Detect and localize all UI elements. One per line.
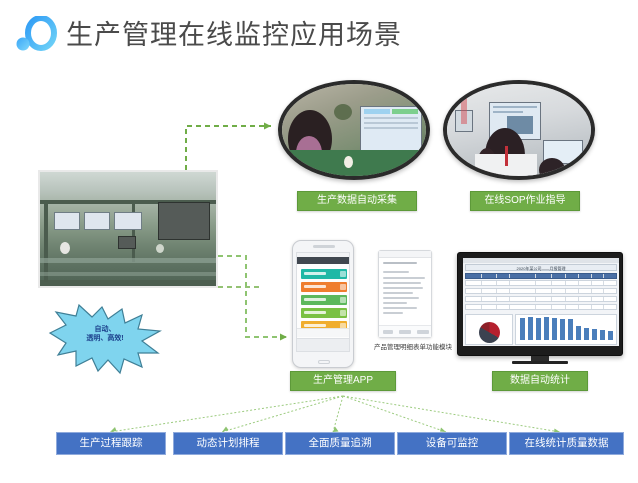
factory-line-photo [38,170,218,288]
menu-item-text [304,285,326,288]
card-header [379,251,431,258]
table-header-row [465,273,617,279]
phone-nav-bar [297,257,350,264]
phone-footer-note [297,328,350,337]
label-online-quality-stats[interactable]: 在线统计质量数据 [509,432,624,455]
bar-chart [515,314,617,345]
label-quality-traceability[interactable]: 全面质量追溯 [285,432,395,455]
dashboard-titlebar [463,258,619,263]
menu-item-text [304,298,326,301]
phone-screen [296,252,350,352]
label-equipment-monitoring[interactable]: 设备可监控 [397,432,507,455]
menu-item-badge-icon [340,297,346,303]
monitor-base [512,361,568,364]
app-caption: 产品管理明细表单功能模块 [374,341,452,351]
slide-canvas: 生产管理在线监控应用场景 [0,0,638,483]
sop-workstation-photo [443,80,595,180]
phone-menu-item[interactable] [301,282,347,292]
label-dynamic-scheduling[interactable]: 动态计划排程 [173,432,283,455]
phone-speaker [313,245,335,248]
pie-chart-circle [479,322,500,343]
menu-item-text [304,324,326,327]
app-detail-card [378,250,432,338]
callout-line-1: 自动、 [46,325,164,334]
label-data-collection[interactable]: 生产数据自动采集 [297,191,417,211]
dashboard-title: 2020年某公司——月报管理 [465,264,617,271]
table-row[interactable] [465,288,617,294]
table-row[interactable] [465,296,617,302]
phone-menu-item[interactable] [301,308,347,318]
callout-line-2: 透明、高效! [46,334,164,343]
pie-chart [465,314,513,345]
dashboard-monitor: 2020年某公司——月报管理 [457,252,623,356]
label-auto-statistics[interactable]: 数据自动统计 [492,371,588,391]
menu-item-badge-icon [340,271,346,277]
table-row[interactable] [465,304,617,310]
label-production-app[interactable]: 生产管理APP [290,371,396,391]
phone-menu-item[interactable] [301,269,347,279]
page-title: 生产管理在线监控应用场景 [66,15,402,55]
phone-home-button[interactable] [318,360,330,364]
smartphone-mockup [292,240,354,368]
menu-item-badge-icon [340,310,346,316]
label-process-tracking[interactable]: 生产过程跟踪 [56,432,166,455]
menu-item-text [304,272,326,275]
table-row[interactable] [465,280,617,286]
dashboard-screen: 2020年某公司——月报管理 [463,258,619,346]
card-footer [379,325,431,337]
callout-text: 自动、 透明、高效! [46,325,164,343]
phone-menu-item[interactable] [301,295,347,305]
label-online-sop[interactable]: 在线SOP作业指导 [470,191,580,211]
menu-item-badge-icon [340,284,346,290]
circle-ring-logo-icon [14,16,58,56]
menu-item-text [304,311,326,314]
operator-at-terminal-photo [278,80,430,180]
phone-keyboard [297,338,350,351]
